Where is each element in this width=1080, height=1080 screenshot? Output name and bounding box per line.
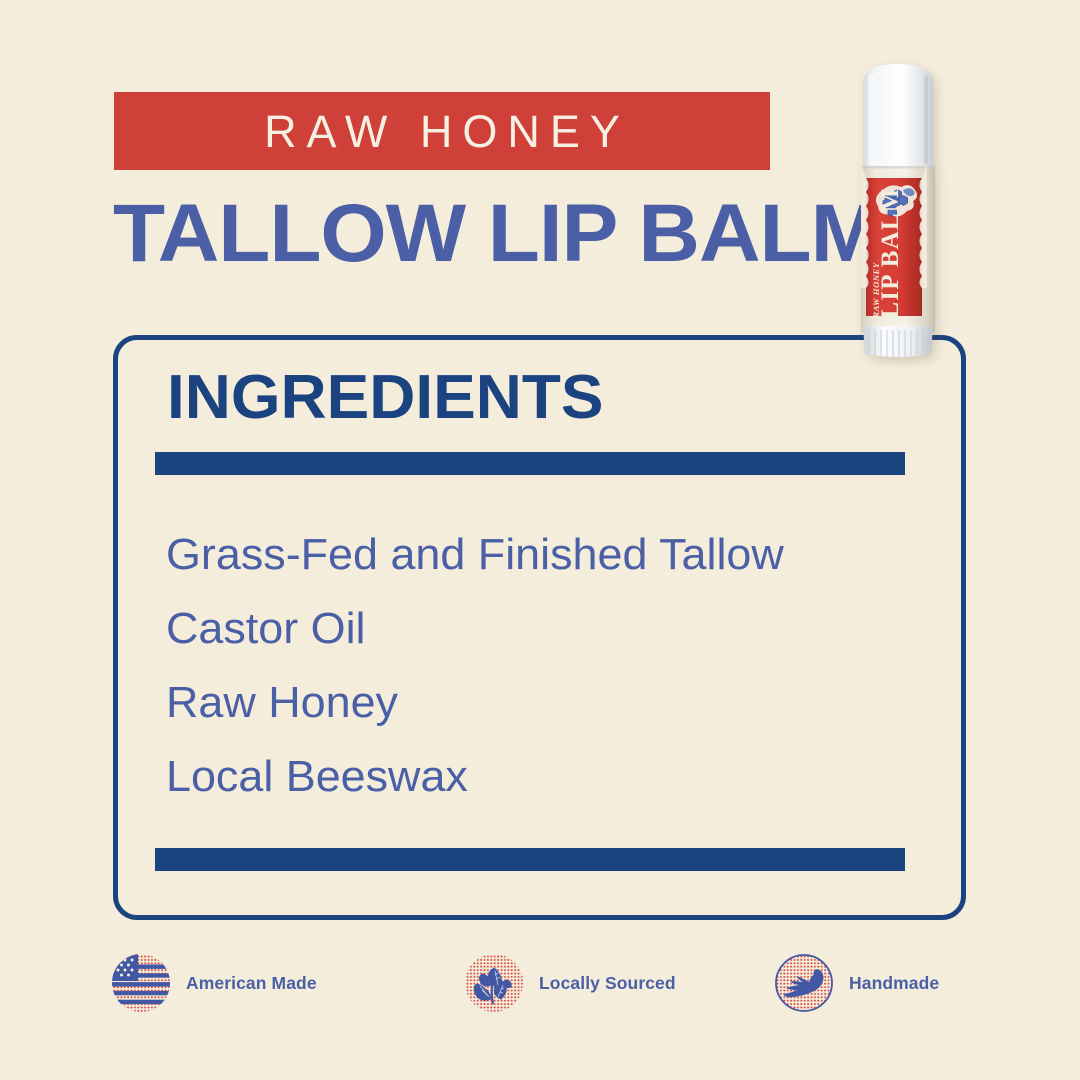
eyebrow-banner: RAW HONEY bbox=[114, 92, 770, 170]
badge-handmade: Handmade bbox=[773, 948, 939, 1018]
eyebrow-text: RAW HONEY bbox=[254, 109, 630, 154]
hand-icon bbox=[773, 952, 835, 1014]
heading-divider-bar bbox=[155, 452, 905, 475]
list-item: Raw Honey bbox=[166, 666, 941, 740]
badge-label: American Made bbox=[186, 973, 317, 994]
list-item: Grass-Fed and Finished Tallow bbox=[166, 518, 941, 592]
american-flag-icon bbox=[110, 952, 172, 1014]
leaves-icon bbox=[463, 952, 525, 1014]
tube-label-product: LIP BALM bbox=[877, 187, 904, 318]
ingredients-heading: INGREDIENTS bbox=[167, 362, 603, 434]
poster-canvas: RAW HONEY TALLOW LIP BALM bbox=[0, 0, 1080, 1080]
lip-balm-tube-image: LIP BALM RAW HONEY bbox=[854, 58, 942, 358]
badge-label: Handmade bbox=[849, 973, 939, 994]
badge-american-made: American Made bbox=[110, 948, 317, 1018]
ingredients-list: Grass-Fed and Finished Tallow Castor Oil… bbox=[166, 518, 926, 814]
badge-label: Locally Sourced bbox=[539, 973, 676, 994]
trust-badge-row: American Made bbox=[0, 948, 1080, 1028]
list-item: Local Beeswax bbox=[166, 740, 941, 814]
footer-divider-bar bbox=[155, 848, 905, 871]
badge-locally-sourced: Locally Sourced bbox=[463, 948, 676, 1018]
list-item: Castor Oil bbox=[166, 592, 941, 666]
page-title: TALLOW LIP BALM bbox=[113, 192, 841, 276]
tube-label-brand: RAW HONEY bbox=[871, 262, 881, 318]
